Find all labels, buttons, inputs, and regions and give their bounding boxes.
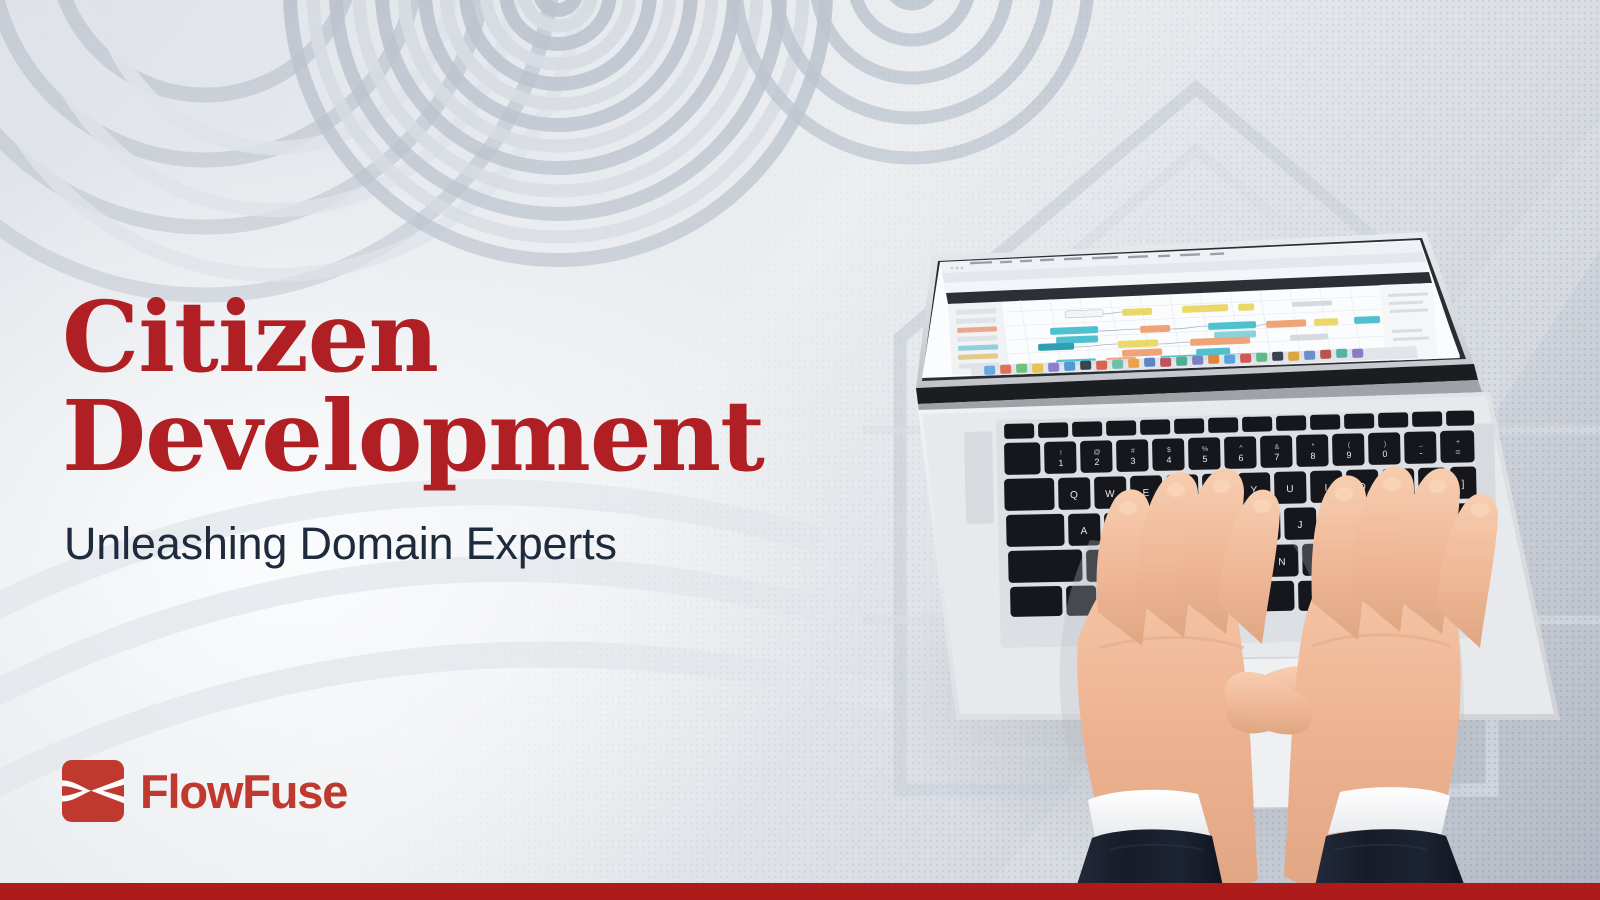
svg-text:%: % — [1202, 446, 1208, 453]
svg-text:1: 1 — [1058, 458, 1063, 468]
bottom-accent-bar — [0, 883, 1600, 900]
svg-text:$: $ — [1167, 447, 1171, 454]
svg-text:): ) — [1384, 441, 1386, 448]
svg-text:6: 6 — [1238, 453, 1243, 463]
svg-text:!: ! — [1060, 450, 1062, 457]
svg-text:@: @ — [1093, 449, 1100, 456]
page-subtitle: Unleashing Domain Experts — [64, 518, 617, 570]
ripple-center-soft-icon — [313, 0, 803, 237]
laptop-illustration: 1 2 3 4 5 6 7 8 9 0 - = ! @ # $ — [860, 0, 1600, 900]
svg-text:0: 0 — [1382, 449, 1387, 459]
svg-text:7: 7 — [1274, 452, 1279, 462]
svg-text:4: 4 — [1166, 455, 1171, 465]
svg-text:]: ] — [1461, 479, 1464, 490]
svg-text:8: 8 — [1310, 451, 1315, 461]
svg-text:W: W — [1105, 489, 1115, 500]
brand-name: FlowFuse — [140, 764, 347, 819]
laptop-photo: 1 2 3 4 5 6 7 8 9 0 - = ! @ # $ — [860, 0, 1600, 900]
svg-text:5: 5 — [1202, 454, 1207, 464]
svg-text:#: # — [1131, 448, 1135, 455]
svg-text:N: N — [1278, 557, 1285, 568]
banner-canvas: 1 2 3 4 5 6 7 8 9 0 - = ! @ # $ — [0, 0, 1600, 900]
svg-text:-: - — [1419, 448, 1422, 458]
svg-text:J: J — [1297, 520, 1302, 531]
svg-text:_: _ — [1418, 440, 1423, 447]
svg-text:Q: Q — [1070, 490, 1078, 501]
svg-text:=: = — [1455, 447, 1460, 457]
ripple-upper-left-icon — [0, 0, 555, 295]
svg-text:3: 3 — [1130, 456, 1135, 466]
page-title: Citizen Development — [62, 288, 764, 486]
svg-text:9: 9 — [1346, 450, 1351, 460]
svg-text:2: 2 — [1094, 457, 1099, 467]
flowfuse-mark-icon — [62, 760, 124, 822]
svg-text:A: A — [1080, 526, 1087, 537]
svg-text:&: & — [1275, 444, 1280, 451]
ripple-center-icon — [290, 0, 826, 260]
brand-logo[interactable]: FlowFuse — [62, 760, 347, 822]
svg-text:*: * — [1312, 443, 1315, 450]
svg-text:U: U — [1286, 484, 1293, 495]
svg-text:+: + — [1456, 439, 1460, 446]
ripple-upper-left-inner-icon — [0, 0, 580, 275]
